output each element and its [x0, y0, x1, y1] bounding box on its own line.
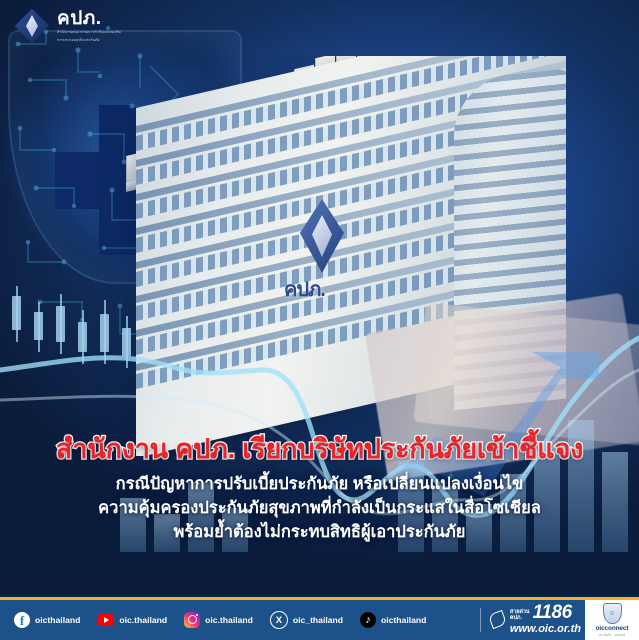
youtube-icon[interactable] [97, 614, 114, 626]
oicconnect-tagline: ประกันภัย ... ออนไลน์ [599, 633, 625, 638]
tiktok-icon[interactable]: ♪ [360, 612, 376, 628]
social-links: f oicthailand oic.thailand oic.thailand … [0, 611, 471, 629]
oicconnect-name: oicconnect [596, 625, 629, 632]
social-link-youtube[interactable]: oic.thailand [97, 614, 167, 626]
logo-abbreviation: คปภ. [57, 9, 121, 28]
subheadline-line-1: กรณีปัญหาการปรับเบี้ยประกันภัย หรือเปลี่… [8, 472, 631, 496]
instagram-handle: oic.thailand [205, 615, 253, 625]
logo-subtitle-line-1: สำนักงานคณะกรรมการกำกับและส่งเสริม [57, 30, 121, 35]
hotline-block[interactable]: สายด่วน คปภ. 1186 www.oic.or.th [490, 605, 585, 634]
facebook-handle: oicthailand [35, 615, 80, 625]
headline-block: สำนักงาน คปภ. เรียกบริษัทประกันภัยเข้าชี… [0, 434, 639, 544]
page-title: สำนักงาน คปภ. เรียกบริษัทประกันภัยเข้าชี… [8, 434, 631, 466]
social-link-x[interactable]: X oic_thailand [270, 611, 343, 629]
social-link-instagram[interactable]: oic.thailand [184, 612, 253, 628]
oicconnect-badge[interactable]: ☺ oicconnect ประกันภัย ... ออนไลน์ [585, 600, 639, 640]
subheadline-line-2: ความคุ้มครองประกันภัยสุขภาพที่กำลังเป็นก… [8, 496, 631, 520]
oic-leaf-icon [488, 610, 507, 629]
footer-divider [480, 608, 481, 632]
x-twitter-icon[interactable]: X [270, 611, 288, 629]
oic-logo: คปภ. สำนักงานคณะกรรมการกำกับและส่งเสริม … [14, 8, 121, 44]
facebook-icon[interactable]: f [14, 612, 30, 628]
youtube-handle: oic.thailand [119, 615, 167, 625]
instagram-icon[interactable] [184, 612, 200, 628]
website-url[interactable]: www.oic.or.th [510, 624, 581, 635]
subheadline-line-3: พร้อมย้ำต้องไม่กระทบสิทธิผู้เอาประกันภัย [8, 520, 631, 544]
social-link-facebook[interactable]: f oicthailand [14, 612, 80, 628]
x-handle: oic_thailand [293, 615, 343, 625]
oic-diamond-logo-icon [14, 8, 50, 44]
hotline-label-2: คปภ. [510, 615, 530, 621]
footer-bar: f oicthailand oic.thailand oic.thailand … [0, 597, 639, 640]
logo-subtitle-line-2: การประกอบธุรกิจประกันภัย [57, 38, 121, 43]
hotline-number[interactable]: 1186 [533, 605, 572, 621]
social-link-tiktok[interactable]: ♪ oicthailand [360, 612, 426, 628]
poster-root: คปภ. [0, 0, 639, 640]
tiktok-handle: oicthailand [381, 615, 426, 625]
oicconnect-shield-icon: ☺ [603, 603, 622, 624]
